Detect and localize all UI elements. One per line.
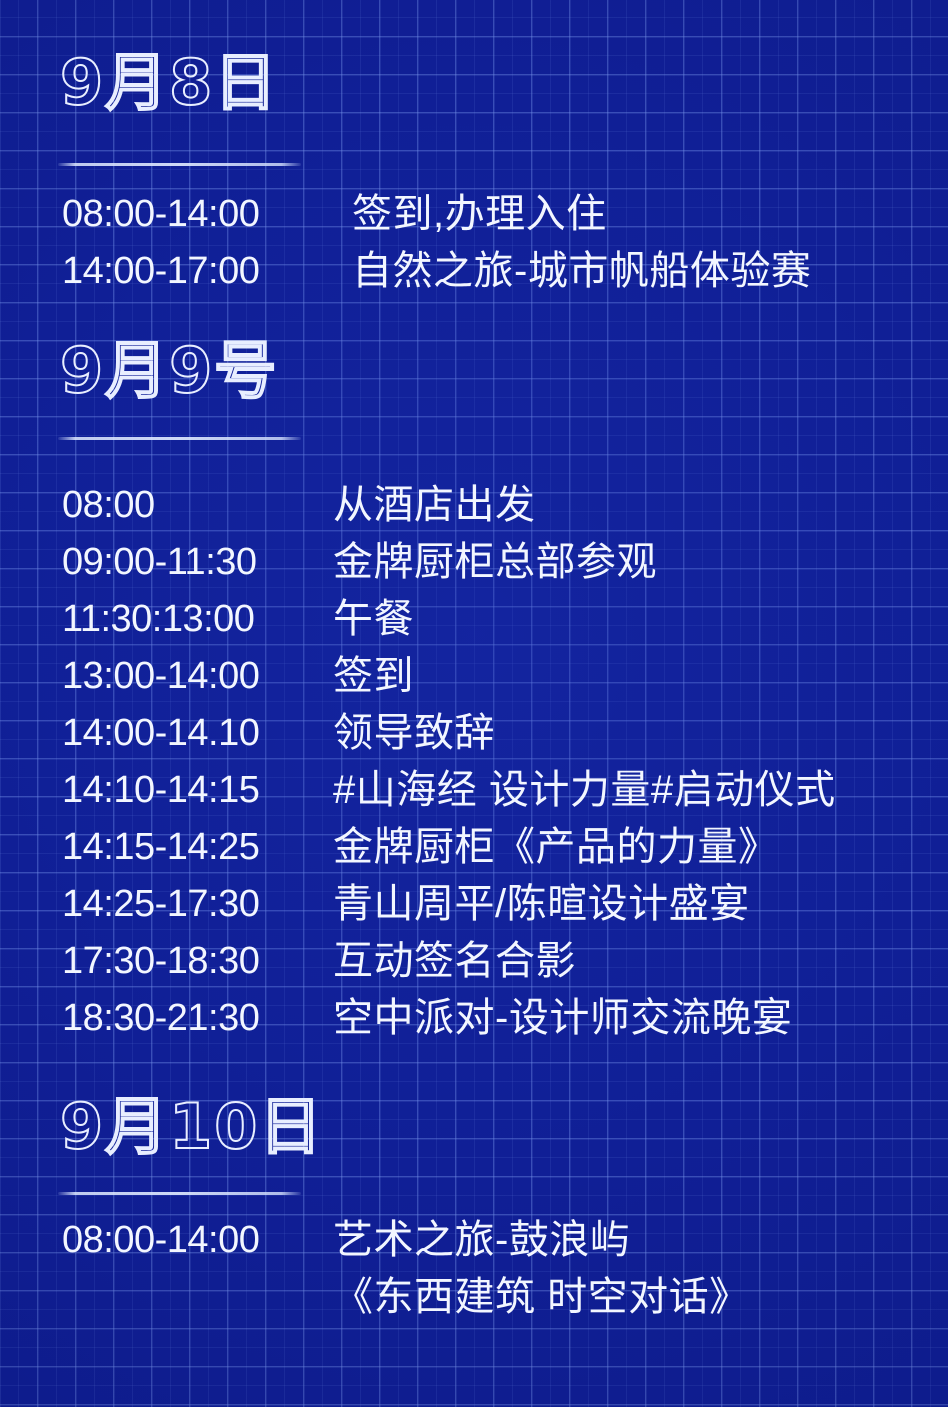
schedule-rows-sep-10: 08:00-14:00 艺术之旅-鼓浪屿 《东西建筑 时空对话》 xyxy=(0,1212,948,1326)
row-time: 14:25-17:30 xyxy=(62,876,259,933)
poster-content: 9月8日 08:00-14:00 签到,办理入住 14:00-17:00 自然之… xyxy=(0,0,948,1407)
row-time: 11:30:13:00 xyxy=(62,591,254,648)
section-divider xyxy=(58,163,301,166)
row-time: 08:00-14:00 xyxy=(62,186,259,243)
row-description: 签到 xyxy=(333,648,414,705)
row-time: 08:00-14:00 xyxy=(62,1212,259,1269)
row-time: 08:00 xyxy=(62,477,155,534)
row-description: 自然之旅-城市帆船体验赛 xyxy=(352,243,811,300)
row-description: 金牌厨柜总部参观 xyxy=(333,534,657,591)
schedule-row: 14:00-14.10 领导致辞 xyxy=(0,705,948,762)
schedule-row: 11:30:13:00 午餐 xyxy=(0,591,948,648)
row-description: 空中派对-设计师交流晚宴 xyxy=(333,990,792,1047)
schedule-row: 08:00 从酒店出发 xyxy=(0,477,948,534)
row-time: 14:10-14:15 xyxy=(62,762,259,819)
schedule-row: 14:15-14:25 金牌厨柜《产品的力量》 xyxy=(0,819,948,876)
row-description: 午餐 xyxy=(333,591,414,648)
row-time: 18:30-21:30 xyxy=(62,990,259,1047)
schedule-row: 14:25-17:30 青山周平/陈暄设计盛宴 xyxy=(0,876,948,933)
schedule-row: 13:00-14:00 签到 xyxy=(0,648,948,705)
date-heading-sep-09: 9月9号 xyxy=(60,340,278,402)
schedule-row: 08:00-14:00 艺术之旅-鼓浪屿 xyxy=(0,1212,948,1269)
row-description: 从酒店出发 xyxy=(333,477,536,534)
schedule-row: 18:30-21:30 空中派对-设计师交流晚宴 xyxy=(0,990,948,1047)
schedule-rows-sep-08: 08:00-14:00 签到,办理入住 14:00-17:00 自然之旅-城市帆… xyxy=(0,186,948,300)
schedule-row: 17:30-18:30 互动签名合影 xyxy=(0,933,948,990)
schedule-row: 《东西建筑 时空对话》 xyxy=(0,1269,948,1326)
row-description: 签到,办理入住 xyxy=(352,186,607,243)
row-description: 金牌厨柜《产品的力量》 xyxy=(333,819,779,876)
schedule-rows-sep-09: 08:00 从酒店出发 09:00-11:30 金牌厨柜总部参观 11:30:1… xyxy=(0,477,948,1047)
row-time: 09:00-11:30 xyxy=(62,534,257,591)
row-description: 青山周平/陈暄设计盛宴 xyxy=(333,876,750,933)
schedule-poster: 9月8日 08:00-14:00 签到,办理入住 14:00-17:00 自然之… xyxy=(0,0,948,1407)
schedule-row: 09:00-11:30 金牌厨柜总部参观 xyxy=(0,534,948,591)
date-heading-sep-08: 9月8日 xyxy=(60,52,278,114)
row-time: 14:00-17:00 xyxy=(62,243,259,300)
row-description: #山海经 设计力量#启动仪式 xyxy=(333,762,836,819)
row-time: 13:00-14:00 xyxy=(62,648,259,705)
section-divider xyxy=(58,1192,301,1195)
row-description: 领导致辞 xyxy=(333,705,495,762)
row-time: 17:30-18:30 xyxy=(62,933,259,990)
row-description: 《东西建筑 时空对话》 xyxy=(333,1269,750,1326)
row-time: 14:15-14:25 xyxy=(62,819,259,876)
row-description: 互动签名合影 xyxy=(333,933,576,990)
section-divider xyxy=(58,437,301,440)
date-heading-sep-10: 9月10日 xyxy=(60,1096,323,1158)
row-description: 艺术之旅-鼓浪屿 xyxy=(333,1212,630,1269)
row-time: 14:00-14.10 xyxy=(62,705,259,762)
schedule-row: 14:00-17:00 自然之旅-城市帆船体验赛 xyxy=(0,243,948,300)
schedule-row: 14:10-14:15 #山海经 设计力量#启动仪式 xyxy=(0,762,948,819)
schedule-row: 08:00-14:00 签到,办理入住 xyxy=(0,186,948,243)
